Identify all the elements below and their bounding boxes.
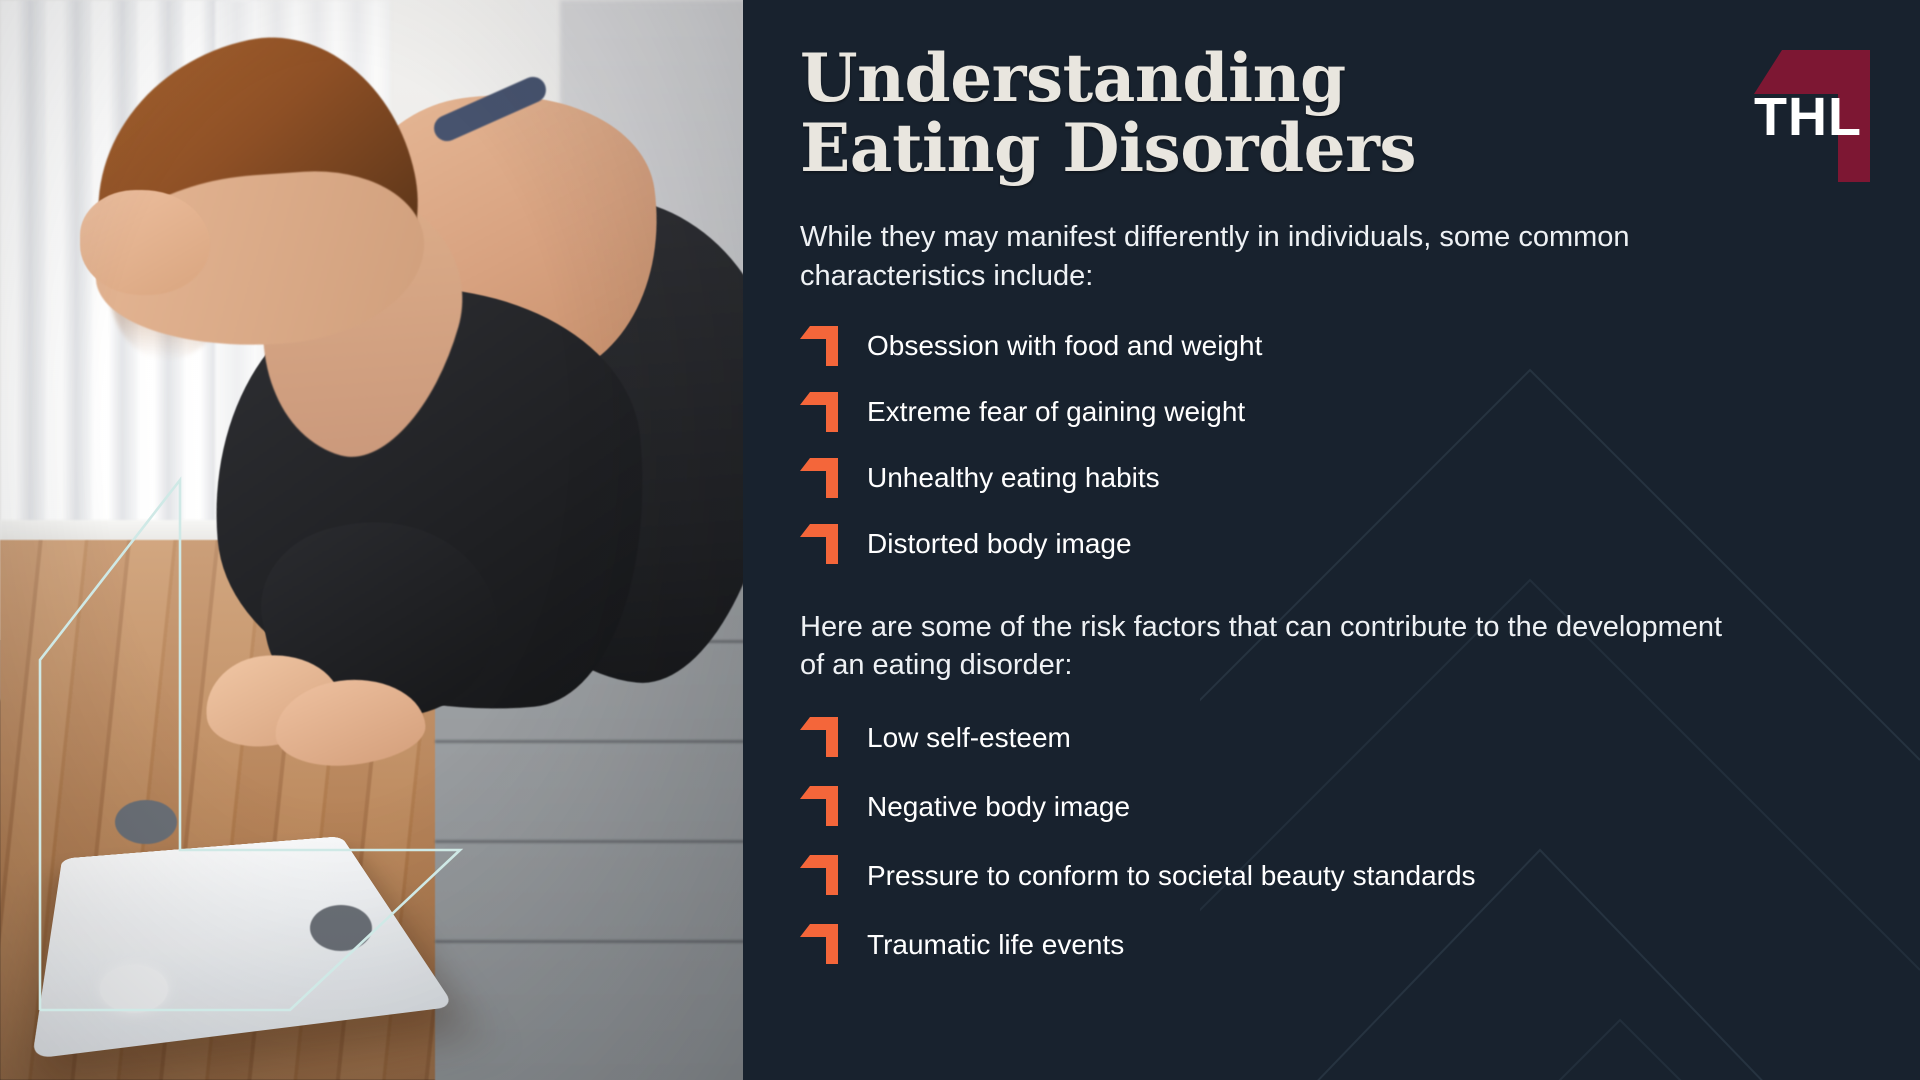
list-item-label: Distorted body image xyxy=(867,527,1132,561)
list-item: Obsession with food and weight xyxy=(800,324,1860,368)
infographic-page: THL Understanding Eating Disorders While… xyxy=(0,0,1920,1080)
arrow-bullet-icon xyxy=(800,388,842,432)
list-item: Low self-esteem xyxy=(800,715,1860,759)
photo-vignette xyxy=(0,0,745,1080)
hero-photo xyxy=(0,0,745,1080)
intro-paragraph: While they may manifest differently in i… xyxy=(800,218,1680,296)
list-item-label: Low self-esteem xyxy=(867,721,1071,755)
page-title: Understanding Eating Disorders xyxy=(800,44,1800,184)
list-item: Negative body image xyxy=(800,784,1860,828)
content-panel: THL Understanding Eating Disorders While… xyxy=(745,0,1920,1080)
arrow-bullet-icon xyxy=(800,782,842,826)
arrow-bullet-icon xyxy=(800,920,842,964)
list-item: Unhealthy eating habits xyxy=(800,456,1860,500)
list-item: Pressure to conform to societal beauty s… xyxy=(800,853,1860,897)
list-item: Traumatic life events xyxy=(800,922,1860,966)
list-item-label: Extreme fear of gaining weight xyxy=(867,395,1245,429)
title-line-2: Eating Disorders xyxy=(800,114,1800,184)
list-item-label: Traumatic life events xyxy=(867,928,1124,962)
arrow-bullet-icon xyxy=(800,322,842,366)
list-item-label: Unhealthy eating habits xyxy=(867,461,1160,495)
thl-logo[interactable]: THL xyxy=(1752,32,1880,182)
list-item-label: Negative body image xyxy=(867,790,1130,824)
arrow-bullet-icon xyxy=(800,713,842,757)
risk-factors-paragraph: Here are some of the risk factors that c… xyxy=(800,608,1740,686)
arrow-bullet-icon xyxy=(800,454,842,498)
list-item: Extreme fear of gaining weight xyxy=(800,390,1860,434)
list-item: Distorted body image xyxy=(800,522,1860,566)
arrow-bullet-icon xyxy=(800,520,842,564)
list-item-label: Pressure to conform to societal beauty s… xyxy=(867,859,1476,893)
risk-factors-list: Low self-esteem Negative body image xyxy=(800,715,1860,966)
logo-wordmark: THL xyxy=(1754,90,1862,144)
characteristics-list: Obsession with food and weight Extreme f… xyxy=(800,324,1860,566)
title-line-1: Understanding xyxy=(800,44,1800,114)
arrow-bullet-icon xyxy=(800,851,842,895)
panel-divider xyxy=(743,0,747,1080)
list-item-label: Obsession with food and weight xyxy=(867,329,1262,363)
